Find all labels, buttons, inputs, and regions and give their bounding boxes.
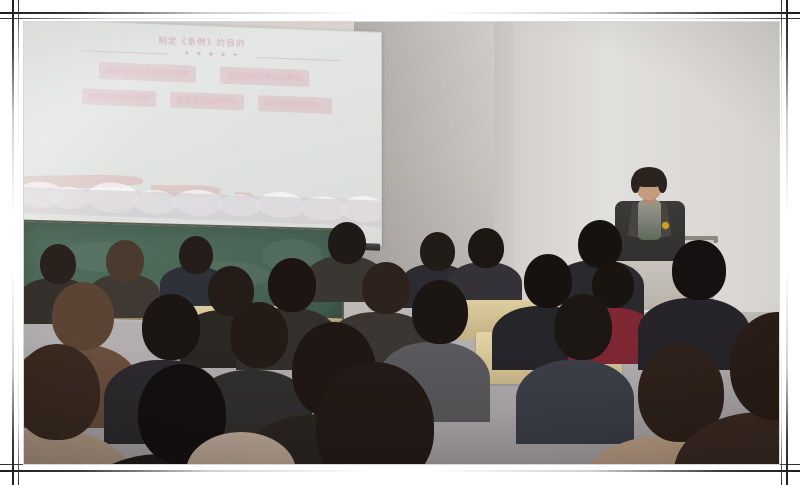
photograph: Audience seated in a classroom facing a …	[24, 22, 779, 464]
frame-line-left-inner	[18, 0, 19, 485]
screenshot-root: Audience seated in a classroom facing a …	[0, 0, 800, 485]
audience	[24, 214, 779, 464]
speaker-hair	[633, 167, 665, 187]
frame-line-bottom-inner	[0, 464, 800, 465]
frame-line-top	[0, 12, 800, 14]
frame-line-right	[786, 0, 788, 485]
frame-line-top-inner	[0, 18, 800, 19]
frame-line-right-inner	[781, 0, 782, 485]
frame-line-left	[12, 0, 14, 485]
frame-line-bottom	[0, 470, 800, 472]
